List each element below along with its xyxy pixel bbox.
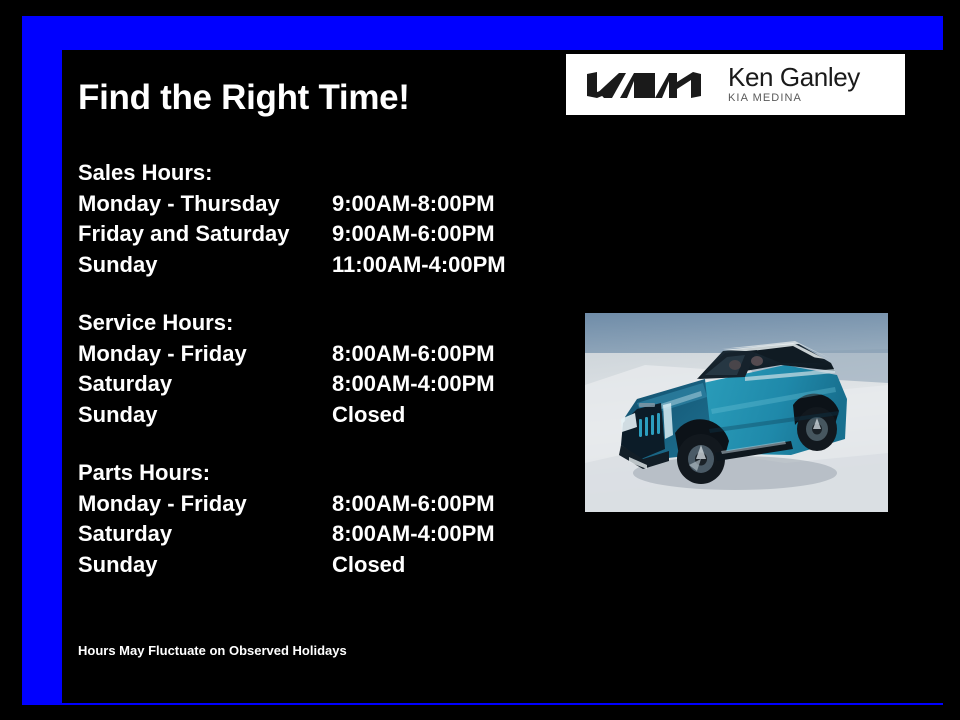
hours-row-day: Saturday [78, 369, 332, 400]
hours-row-time: 11:00AM-4:00PM [332, 250, 506, 281]
kia-ev9-suv-photo [585, 313, 888, 512]
hours-list: Sales Hours:Monday - Thursday9:00AM-8:00… [78, 158, 548, 580]
hours-section-heading: Parts Hours: [78, 458, 548, 489]
hours-row-day: Monday - Thursday [78, 189, 332, 220]
dealer-name-group: Ken Ganley KIA MEDINA [728, 64, 860, 105]
hours-section: Service Hours:Monday - Friday8:00AM-6:00… [78, 308, 548, 430]
hours-row-time: 9:00AM-8:00PM [332, 189, 495, 220]
hours-section-heading: Service Hours: [78, 308, 548, 339]
hours-row-day: Saturday [78, 519, 332, 550]
kia-logo-icon [582, 70, 706, 100]
dealer-subtitle: KIA MEDINA [728, 91, 860, 105]
hours-row-time: 8:00AM-4:00PM [332, 369, 495, 400]
hours-row-time: 8:00AM-4:00PM [332, 519, 495, 550]
hours-row-day: Sunday [78, 550, 332, 581]
hours-row: Friday and Saturday9:00AM-6:00PM [78, 219, 548, 250]
hours-row-day: Sunday [78, 400, 332, 431]
hours-row-day: Sunday [78, 250, 332, 281]
hours-row: Saturday8:00AM-4:00PM [78, 369, 548, 400]
dealer-logo-banner: Ken Ganley KIA MEDINA [566, 54, 905, 115]
hours-row-time: 9:00AM-6:00PM [332, 219, 495, 250]
hours-row: Saturday8:00AM-4:00PM [78, 519, 548, 550]
hours-row-time: Closed [332, 550, 405, 581]
hours-row: Monday - Friday8:00AM-6:00PM [78, 489, 548, 520]
hours-row: Monday - Thursday9:00AM-8:00PM [78, 189, 548, 220]
hours-section: Sales Hours:Monday - Thursday9:00AM-8:00… [78, 158, 548, 280]
hours-section: Parts Hours:Monday - Friday8:00AM-6:00PM… [78, 458, 548, 580]
hours-row-day: Friday and Saturday [78, 219, 332, 250]
hours-row: SundayClosed [78, 400, 548, 431]
hours-row-day: Monday - Friday [78, 489, 332, 520]
footnote-text: Hours May Fluctuate on Observed Holidays [78, 643, 347, 658]
hours-row: Monday - Friday8:00AM-6:00PM [78, 339, 548, 370]
hours-row: Sunday11:00AM-4:00PM [78, 250, 548, 281]
hours-row-time: 8:00AM-6:00PM [332, 489, 495, 520]
dealer-name: Ken Ganley [728, 64, 860, 91]
slide-canvas: Find the Right Time! Sales Hours:Monday … [0, 0, 960, 720]
page-title: Find the Right Time! [78, 79, 410, 118]
hours-row-time: 8:00AM-6:00PM [332, 339, 495, 370]
hours-section-heading: Sales Hours: [78, 158, 548, 189]
hours-row: SundayClosed [78, 550, 548, 581]
hours-row-time: Closed [332, 400, 405, 431]
hours-row-day: Monday - Friday [78, 339, 332, 370]
